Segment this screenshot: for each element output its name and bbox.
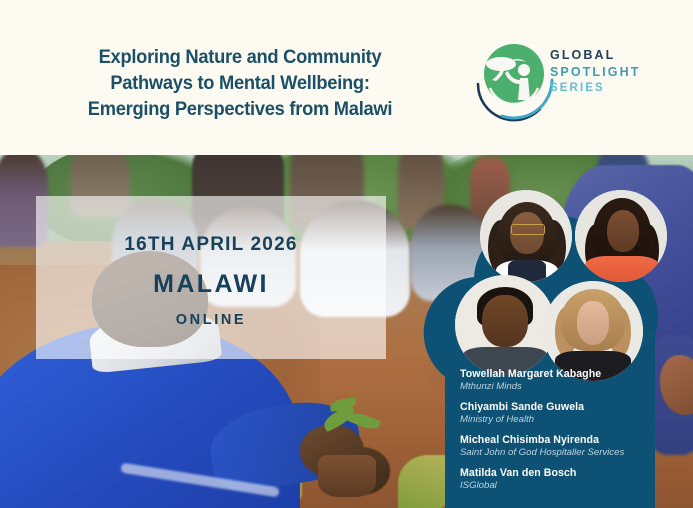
speaker-photo-micheal-chisimba-nyirenda[interactable] — [455, 275, 555, 375]
speaker-entry: Micheal Chisimba Nyirenda Saint John of … — [460, 434, 640, 459]
speaker-entry: Towellah Margaret Kabaghe Mthunzi Minds — [460, 368, 640, 393]
title-line-3: Emerging Perspectives from Malawi — [52, 96, 428, 122]
title-line-1: Exploring Nature and Community — [52, 44, 428, 70]
speaker-entry: Chiyambi Sande Guwela Ministry of Health — [460, 401, 640, 426]
speaker-organisation: Saint John of God Hospitaller Services — [460, 447, 640, 459]
page-title: Exploring Nature and Community Pathways … — [40, 44, 440, 122]
avatar-blazer — [585, 256, 659, 282]
speaker-photo-towellah-margaret-kabaghe[interactable] — [480, 190, 572, 282]
logo-wordmark: GLOBAL SPOTLIGHT SERIES — [550, 47, 640, 96]
speaker-name: Matilda Van den Bosch — [460, 467, 640, 480]
global-spotlight-series-logo: GLOBAL SPOTLIGHT SERIES — [468, 36, 643, 131]
avatar-face — [607, 210, 639, 252]
speaker-name: Chiyambi Sande Guwela — [460, 401, 640, 414]
speaker-entry: Matilda Van den Bosch ISGlobal — [460, 467, 640, 492]
avatar-face — [482, 295, 528, 347]
glasses-icon — [511, 224, 545, 235]
speaker-organisation: Mthunzi Minds — [460, 381, 640, 393]
title-line-2: Pathways to Mental Wellbeing: — [52, 70, 428, 96]
speaker-photo-matilda-van-den-bosch[interactable] — [543, 281, 643, 381]
poster-header: Exploring Nature and Community Pathways … — [0, 0, 693, 155]
event-poster: 16TH APRIL 2026 MALAWI ONLINE — [0, 0, 693, 508]
logo-person-head — [518, 64, 530, 76]
speaker-list: Towellah Margaret Kabaghe Mthunzi Minds … — [460, 368, 640, 500]
logo-word-global: GLOBAL — [550, 47, 640, 64]
tree-and-person-circle-logo — [468, 36, 560, 128]
logo-word-spotlight: SPOTLIGHT — [550, 64, 640, 81]
speaker-name: Towellah Margaret Kabaghe — [460, 368, 640, 381]
speaker-name: Micheal Chisimba Nyirenda — [460, 434, 640, 447]
logo-tree-canopy — [486, 57, 516, 71]
speaker-organisation: Ministry of Health — [460, 414, 640, 426]
logo-word-series: SERIES — [550, 81, 640, 96]
speaker-photo-chiyambi-sande-guwela[interactable] — [575, 190, 667, 282]
speaker-organisation: ISGlobal — [460, 480, 640, 492]
avatar-face — [577, 301, 609, 345]
